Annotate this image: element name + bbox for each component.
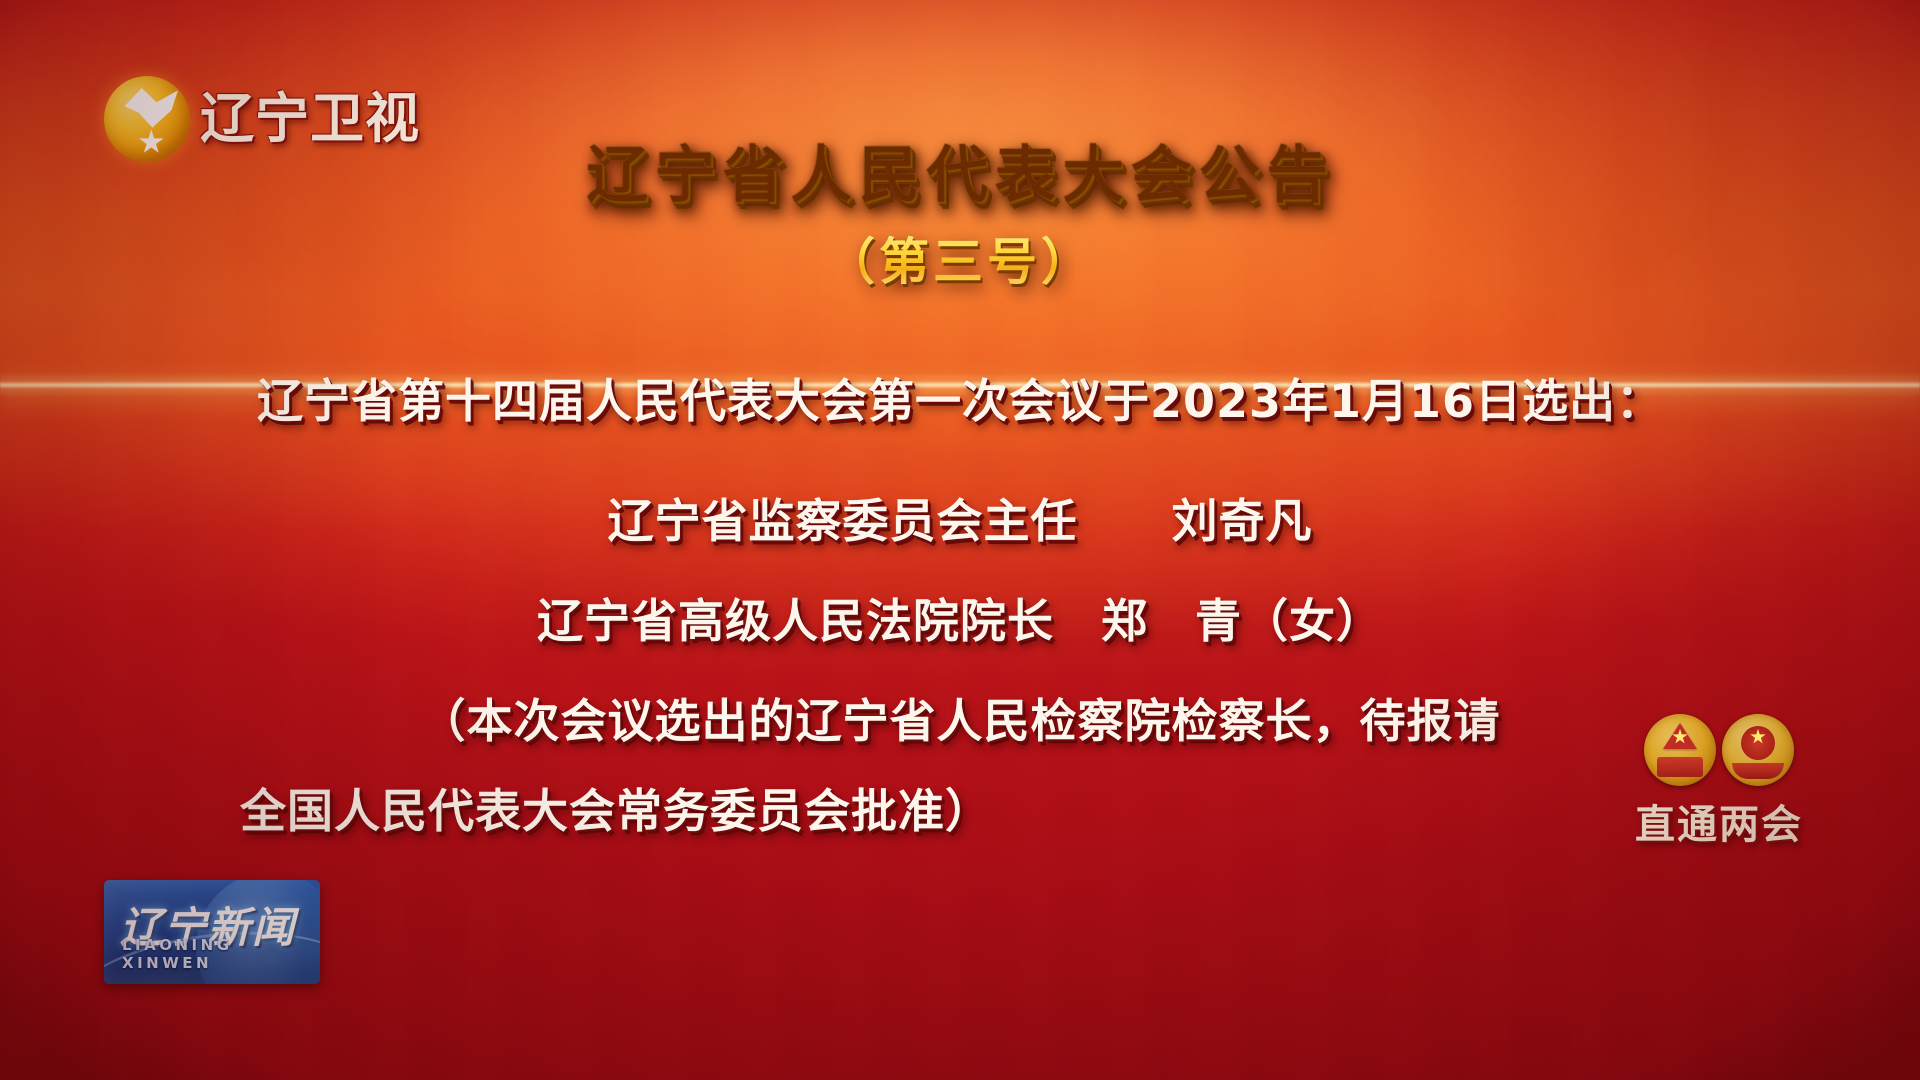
emblem-label: 直通两会 xyxy=(1614,792,1824,850)
two-sessions-emblem: 直通两会 xyxy=(1614,710,1824,860)
page-title: 辽宁省人民代表大会公告 xyxy=(0,124,1920,214)
cppcc-emblem-icon xyxy=(1722,714,1794,788)
announcement-entry-1: 辽宁省监察委员会主任 刘奇凡 xyxy=(0,485,1920,551)
announcement-note-line-2: 全国人民代表大会常务委员会批准） xyxy=(240,775,992,841)
program-name-en: LIAONING XINWEN xyxy=(122,936,320,972)
broadcast-screen: 辽宁卫视 辽宁省人民代表大会公告 （第三号） 辽宁省第十四届人民代表大会第一次会… xyxy=(0,0,1920,1080)
swoosh-shape xyxy=(125,88,178,128)
npc-national-emblem-icon xyxy=(1644,714,1716,788)
announcement-entry-2: 辽宁省高级人民法院院长 郑 青（女） xyxy=(0,585,1920,651)
announcement-intro: 辽宁省第十四届人民代表大会第一次会议于2023年1月16日选出： xyxy=(0,365,1920,431)
emblem-badges xyxy=(1614,710,1824,788)
program-banner: 辽宁新闻 LIAONING XINWEN xyxy=(104,880,320,984)
page-subtitle: （第三号） xyxy=(0,222,1920,294)
